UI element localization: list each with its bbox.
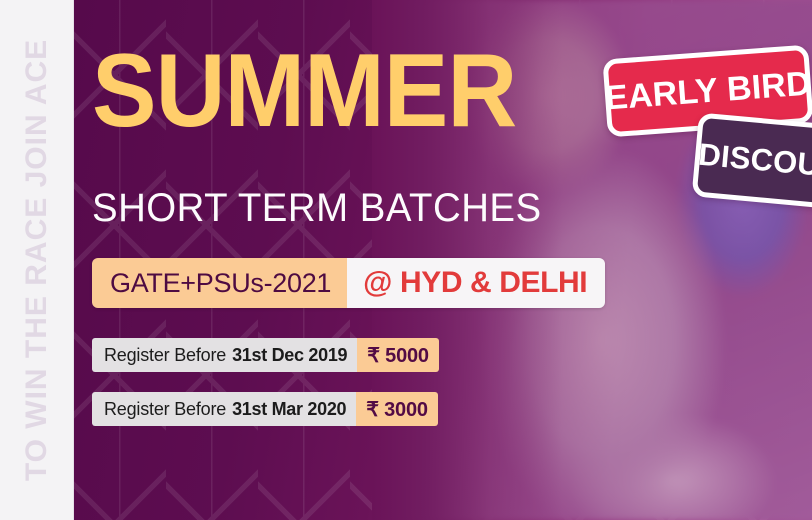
course-name: GATE+PSUs-2021 xyxy=(92,258,347,308)
price-row: Register Before 31st Dec 2019 ₹ 5000 xyxy=(92,338,439,372)
side-rail-tagline: TO WIN THE RACE JOIN ACE xyxy=(20,39,54,481)
price-deadline-date: 31st Mar 2020 xyxy=(232,399,346,420)
price-amount: ₹ 5000 xyxy=(357,338,439,372)
banner-stage: SUMMER SHORT TERM BATCHES GATE+PSUs-2021… xyxy=(74,0,812,520)
page-title: SUMMER xyxy=(92,48,516,135)
price-label: Register Before 31st Dec 2019 xyxy=(92,338,357,372)
price-amount: ₹ 3000 xyxy=(356,392,438,426)
course-bar: GATE+PSUs-2021 @ HYD & DELHI xyxy=(92,258,605,308)
price-label: Register Before 31st Mar 2020 xyxy=(92,392,356,426)
course-locations: @ HYD & DELHI xyxy=(347,258,605,308)
discount-badge: DISCOUNT xyxy=(692,112,812,211)
price-deadline-date: 31st Dec 2019 xyxy=(232,345,347,366)
page-subtitle: SHORT TERM BATCHES xyxy=(92,188,542,228)
promo-banner: TO WIN THE RACE JOIN ACE SUMMER SHORT TE… xyxy=(0,0,812,520)
price-label-prefix: Register Before xyxy=(104,399,226,420)
price-label-prefix: Register Before xyxy=(104,345,226,366)
side-rail: TO WIN THE RACE JOIN ACE xyxy=(0,0,74,520)
price-row: Register Before 31st Mar 2020 ₹ 3000 xyxy=(92,392,438,426)
